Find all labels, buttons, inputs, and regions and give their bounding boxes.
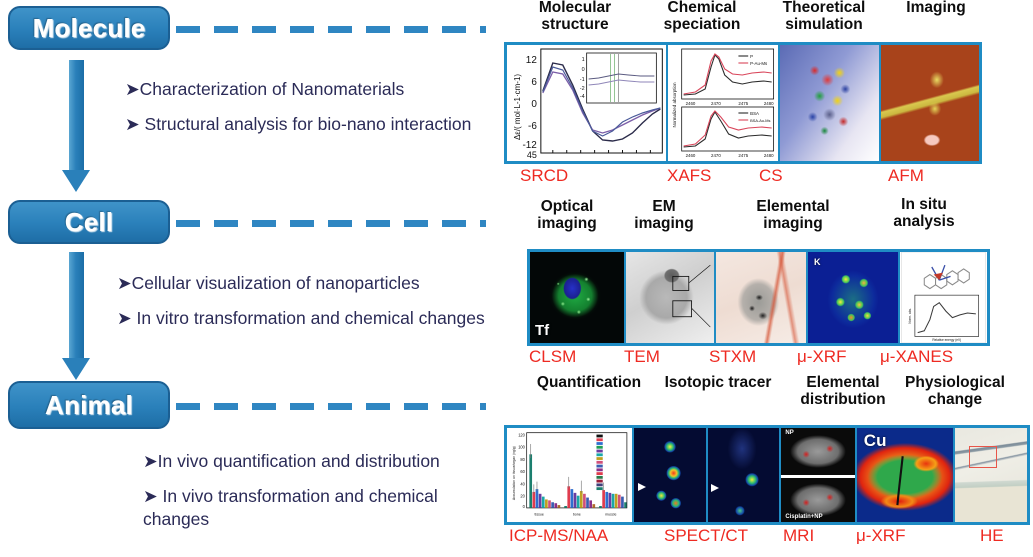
svg-text:80: 80 <box>520 457 525 462</box>
svg-text:6: 6 <box>531 77 537 88</box>
header-em-imaging: EM imaging <box>622 199 706 232</box>
technique-label-icp-ms-naa: ICP-MS/NAA <box>509 526 608 546</box>
svg-text:tissue: tissue <box>535 512 544 516</box>
header-optical-imaging: Optical imaging <box>522 199 612 232</box>
header-chemical-speciation: Chemical speciation <box>648 0 756 33</box>
header-elemental-imaging: Elemental imaging <box>734 199 852 232</box>
technique-row-molecule: Molecular structure Chemical speciation … <box>500 0 1033 190</box>
bullet-list-cell: ➤Cellular visualization of nanoparticles… <box>100 272 490 343</box>
uxrf-element-tag: K <box>814 257 821 267</box>
bullet-item: ➤ In vitro transformation and chemical c… <box>100 307 490 329</box>
header-in-situ-analysis: In situ analysis <box>875 197 973 230</box>
dashed-connector-animal <box>176 403 486 410</box>
mri-top-label: NP <box>785 430 793 436</box>
technique-label-stxm: STXM <box>709 347 756 367</box>
svg-text:2470: 2470 <box>711 153 721 158</box>
image-cell-spect-ct-b[interactable] <box>706 428 780 522</box>
svg-text:2460: 2460 <box>686 101 696 106</box>
technique-label-clsm: CLSM <box>529 347 576 367</box>
technique-label-uxanes: μ-XANES <box>880 347 953 367</box>
svg-text:40: 40 <box>520 481 525 486</box>
image-cell-tem[interactable] <box>624 252 714 343</box>
row1-image-strip: 12 6 0 -6 -12 45 Δε/( mol·L-1·cm-1) <box>504 42 982 164</box>
header-imaging: Imaging <box>892 0 980 17</box>
spect-pointer-arrow-a <box>638 483 646 491</box>
image-cell-uxrf-cu[interactable]: Cu <box>855 428 954 522</box>
svg-text:2460: 2460 <box>686 153 696 158</box>
svg-text:2470: 2470 <box>711 101 721 106</box>
svg-text:100: 100 <box>518 445 525 450</box>
technique-label-he: HE <box>980 526 1004 546</box>
technique-label-srcd: SRCD <box>520 166 568 186</box>
technique-label-mri: MRI <box>783 526 814 546</box>
svg-text:-6: -6 <box>528 121 537 132</box>
bullet-item: ➤ Structural analysis for bio-nano inter… <box>108 113 488 135</box>
svg-text:Relative energy (eV): Relative energy (eV) <box>932 338 961 342</box>
icp-ms-naa-bar-chart: 120 100 80 60 40 20 0 Accumulation on ti… <box>507 428 632 522</box>
header-molecular-structure: Molecular structure <box>522 0 628 33</box>
header-theoretical-simulation: Theoretical simulation <box>768 0 880 33</box>
svg-text:Δε/( mol·L-1·cm-1): Δε/( mol·L-1·cm-1) <box>513 74 522 140</box>
svg-text:1: 1 <box>582 57 585 63</box>
technique-label-uxrf: μ-XRF <box>797 347 846 367</box>
svg-text:P-Au-Ms: P-Au-Ms <box>750 61 768 66</box>
svg-text:120: 120 <box>518 432 525 437</box>
svg-text:Normalized absorption: Normalized absorption <box>672 82 677 127</box>
row3-technique-labels: ICP-MS/NAA SPECT/CT MRI μ-XRF HE <box>500 526 1033 552</box>
svg-text:BSA-Au-Ms: BSA-Au-Ms <box>750 118 770 123</box>
mri-bottom-label: Cisplatin+NP <box>785 514 822 520</box>
svg-text:20: 20 <box>520 493 525 498</box>
svg-text:2475: 2475 <box>739 153 749 158</box>
svg-text:Accumulation on tissue/organ (: Accumulation on tissue/organ (ng/g) <box>512 446 516 500</box>
bullet-item: ➤ In vivo transformation and chemical ch… <box>126 485 496 530</box>
bullet-item: ➤In vivo quantification and distribution <box>126 450 496 472</box>
image-cell-xafs[interactable]: P P-Au-Ms 2460 2470 2475 2480 BSA <box>666 45 778 161</box>
image-cell-uxrf-k[interactable]: K <box>806 252 898 343</box>
process-flow-column: Molecule ➤Characterization of Nanomateri… <box>0 0 500 557</box>
svg-text:-4: -4 <box>580 94 585 100</box>
svg-text:muscle: muscle <box>605 512 616 516</box>
svg-text:BSA: BSA <box>750 111 759 116</box>
mri-panel-bottom: Cisplatin+NP <box>781 475 854 522</box>
bullet-list-animal: ➤In vivo quantification and distribution… <box>126 450 496 543</box>
clsm-tag-label: Tf <box>535 322 549 339</box>
header-physiological-change: Physiological change <box>900 375 1010 408</box>
svg-text:2480: 2480 <box>764 153 774 158</box>
row2-technique-labels: CLSM TEM STXM μ-XRF μ-XANES <box>500 347 1033 371</box>
image-cell-he[interactable] <box>953 428 1027 522</box>
technique-row-cell: Optical imaging EM imaging Elemental ima… <box>500 195 1033 370</box>
svg-text:0: 0 <box>531 99 537 110</box>
svg-text:bone: bone <box>573 512 581 516</box>
svg-text:P: P <box>750 54 753 59</box>
row1-technique-labels: SRCD XAFS CS AFM <box>500 166 1033 190</box>
xafs-plot: P P-Au-Ms 2460 2470 2475 2480 BSA <box>668 45 778 161</box>
spect-pointer-arrow-b <box>711 484 719 492</box>
header-elemental-distribution: Elemental distribution <box>790 375 896 408</box>
svg-text:0: 0 <box>582 67 585 73</box>
bullet-item: ➤Cellular visualization of nanoparticles <box>100 272 490 294</box>
image-cell-spect-ct-a[interactable] <box>632 428 706 522</box>
svg-text:60: 60 <box>520 469 525 474</box>
flow-arrow-molecule-to-cell <box>62 60 90 192</box>
dashed-connector-cell <box>176 220 486 227</box>
bullet-list-molecule: ➤Characterization of Nanomaterials ➤ Str… <box>108 78 488 149</box>
svg-text:12: 12 <box>526 55 538 66</box>
image-cell-afm[interactable] <box>879 45 979 161</box>
svg-text:2475: 2475 <box>739 101 749 106</box>
svg-text:45: 45 <box>527 150 537 160</box>
he-roi-box <box>969 446 997 468</box>
row1-header-strip: Molecular structure Chemical speciation … <box>500 0 1033 42</box>
technique-row-animal: Quantification Isotopic tracer Elemental… <box>500 373 1033 557</box>
flow-arrow-cell-to-animal <box>62 252 90 380</box>
technique-label-tem: TEM <box>624 347 660 367</box>
svg-text:-2: -2 <box>580 86 585 92</box>
image-cell-cs-simulation[interactable] <box>778 45 880 161</box>
technique-label-spect-ct: SPECT/CT <box>664 526 748 546</box>
svg-text:Norm. abs.: Norm. abs. <box>908 308 912 324</box>
stage-label-molecule: Molecule <box>8 6 170 50</box>
row2-image-strip: Tf K <box>527 249 990 346</box>
row3-header-strip: Quantification Isotopic tracer Elemental… <box>500 373 1033 423</box>
svg-text:2480: 2480 <box>764 101 774 106</box>
technique-label-cs: CS <box>759 166 783 186</box>
image-cell-clsm[interactable]: Tf <box>530 252 624 343</box>
technique-gallery-column: Molecular structure Chemical speciation … <box>500 0 1033 557</box>
dashed-connector-molecule <box>176 26 486 33</box>
svg-text:-1: -1 <box>580 77 585 83</box>
image-cell-uxanes[interactable]: Relative energy (eV) Norm. abs. <box>898 252 987 343</box>
image-cell-mri[interactable]: NP Cisplatin+NP <box>779 428 854 522</box>
header-quantification: Quantification <box>524 375 654 392</box>
technique-label-xafs: XAFS <box>667 166 711 186</box>
image-cell-srcd[interactable]: 12 6 0 -6 -12 45 Δε/( mol·L-1·cm-1) <box>507 45 666 161</box>
row3-image-strip: 120 100 80 60 40 20 0 Accumulation on ti… <box>504 425 1030 525</box>
image-cell-stxm[interactable] <box>714 252 806 343</box>
image-cell-icp-ms-naa[interactable]: 120 100 80 60 40 20 0 Accumulation on ti… <box>507 428 632 522</box>
stage-label-cell: Cell <box>8 200 170 244</box>
technique-label-uxrf-row3: μ-XRF <box>856 526 905 546</box>
stage-label-animal: Animal <box>8 381 170 429</box>
technique-label-afm: AFM <box>888 166 924 186</box>
mri-panel-top: NP <box>781 428 854 475</box>
bullet-item: ➤Characterization of Nanomaterials <box>108 78 488 100</box>
header-isotopic-tracer: Isotopic tracer <box>648 375 788 392</box>
srcd-plot: 12 6 0 -6 -12 45 Δε/( mol·L-1·cm-1) <box>507 45 666 161</box>
row2-header-strip: Optical imaging EM imaging Elemental ima… <box>500 195 1033 245</box>
